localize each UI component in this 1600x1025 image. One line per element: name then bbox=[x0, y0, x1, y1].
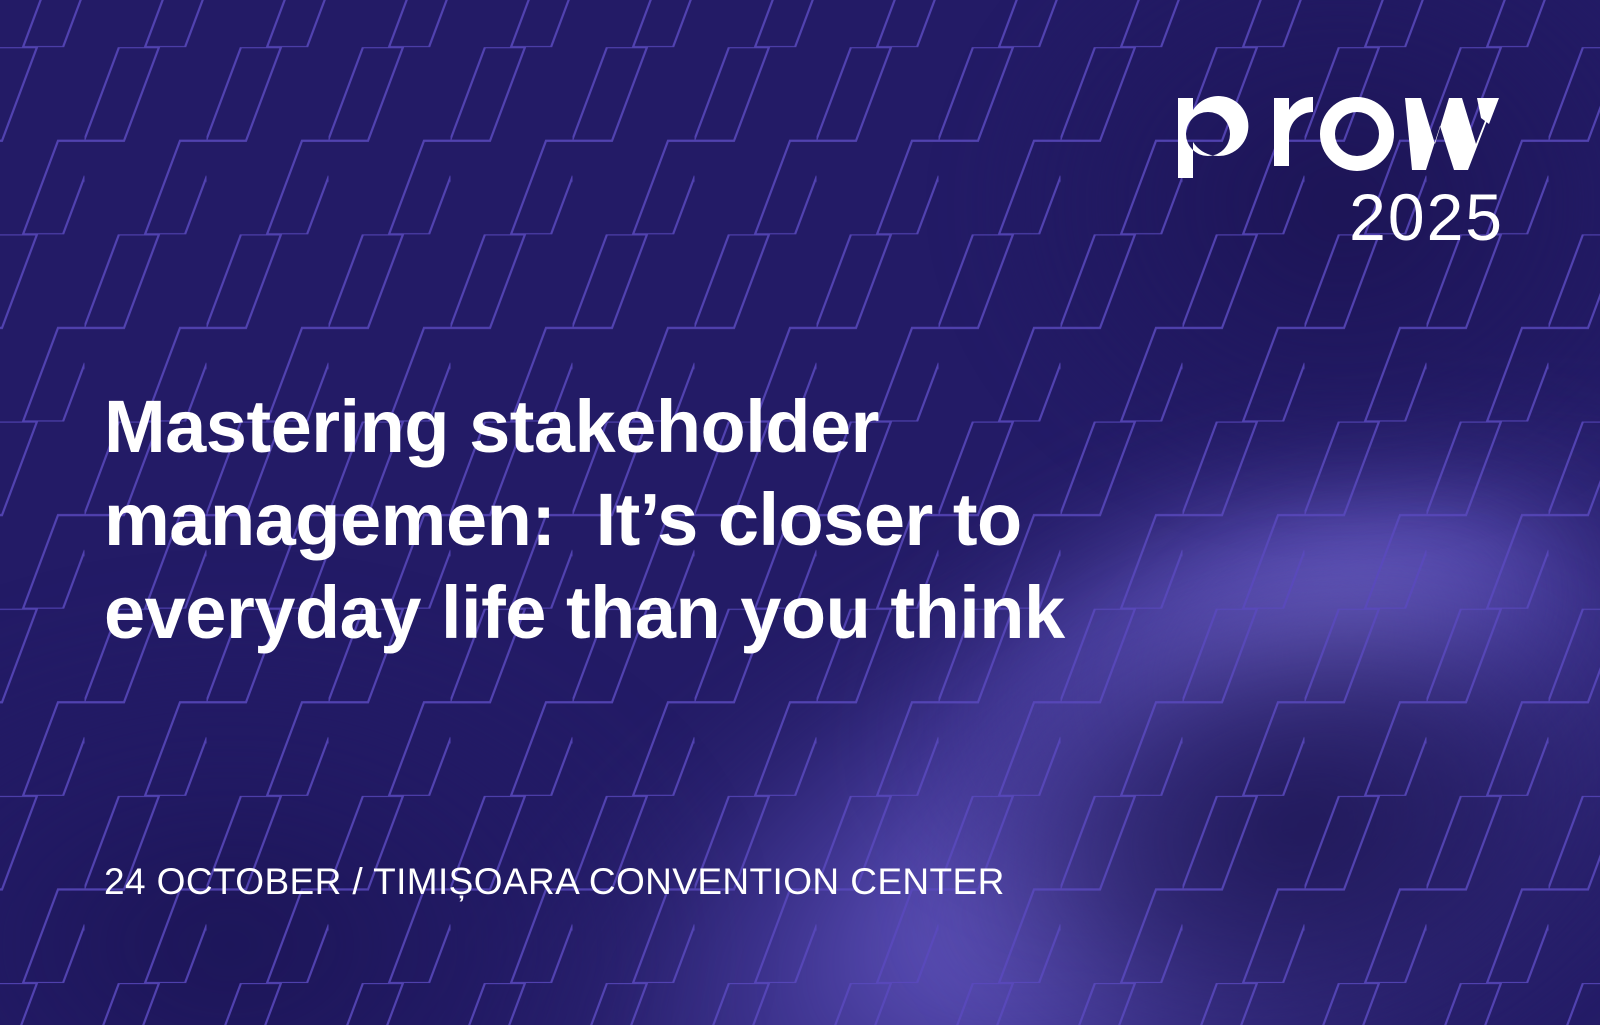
page-title: Mastering stakeholder managemen: It’s cl… bbox=[104, 380, 1124, 659]
event-details: 24 OCTOBER / TIMIȘOARA CONVENTION CENTER bbox=[104, 862, 1005, 903]
event-banner: 2025 Mastering stakeholder managemen: It… bbox=[0, 0, 1600, 1025]
